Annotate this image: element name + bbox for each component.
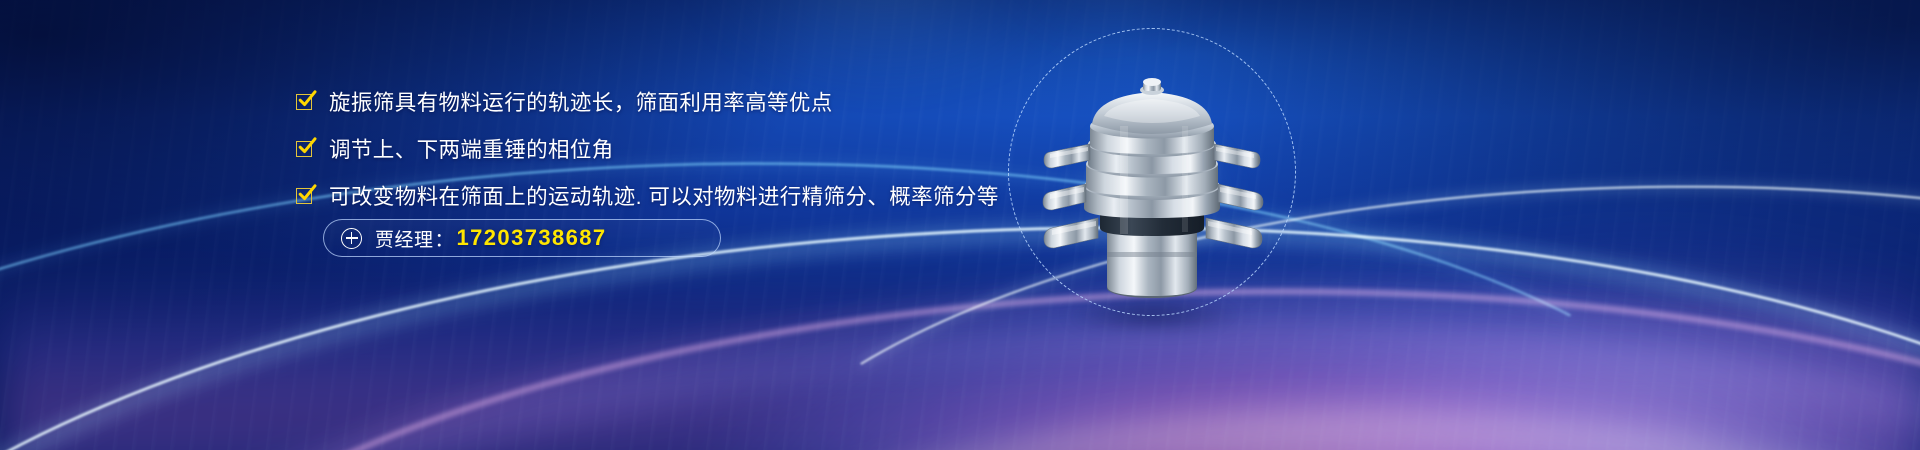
checkbox-checked-icon [296,141,315,160]
checkbox-checked-icon [296,94,315,113]
feature-item: 旋振筛具有物料运行的轨迹长，筛面利用率高等优点 [296,88,1056,118]
feature-item-label: 调节上、下两端重锤的相位角 [329,135,614,165]
contact-phone: 17203738687 [457,225,607,251]
contact-pill[interactable]: 贾经理 ： 17203738687 [323,219,721,257]
contact-name: 贾经理 [375,225,434,252]
contact-separator: ： [435,225,454,252]
feature-item-label: 可改变物料在筛面上的运动轨迹. 可以对物料进行精筛分、概率筛分等 [329,182,999,212]
feature-item: 调节上、下两端重锤的相位角 [296,135,1056,165]
feature-item-label: 旋振筛具有物料运行的轨迹长，筛面利用率高等优点 [329,88,833,118]
banner-content: 旋振筛具有物料运行的轨迹长，筛面利用率高等优点 调节上、下两端重锤的相位角 可改… [0,0,1920,450]
plus-circle-icon [341,228,362,249]
promo-banner: 旋振筛具有物料运行的轨迹长，筛面利用率高等优点 调节上、下两端重锤的相位角 可改… [0,0,1920,450]
feature-item: 可改变物料在筛面上的运动轨迹. 可以对物料进行精筛分、概率筛分等 [296,182,1056,212]
feature-list: 旋振筛具有物料运行的轨迹长，筛面利用率高等优点 调节上、下两端重锤的相位角 可改… [296,88,1056,229]
checkbox-checked-icon [296,188,315,207]
